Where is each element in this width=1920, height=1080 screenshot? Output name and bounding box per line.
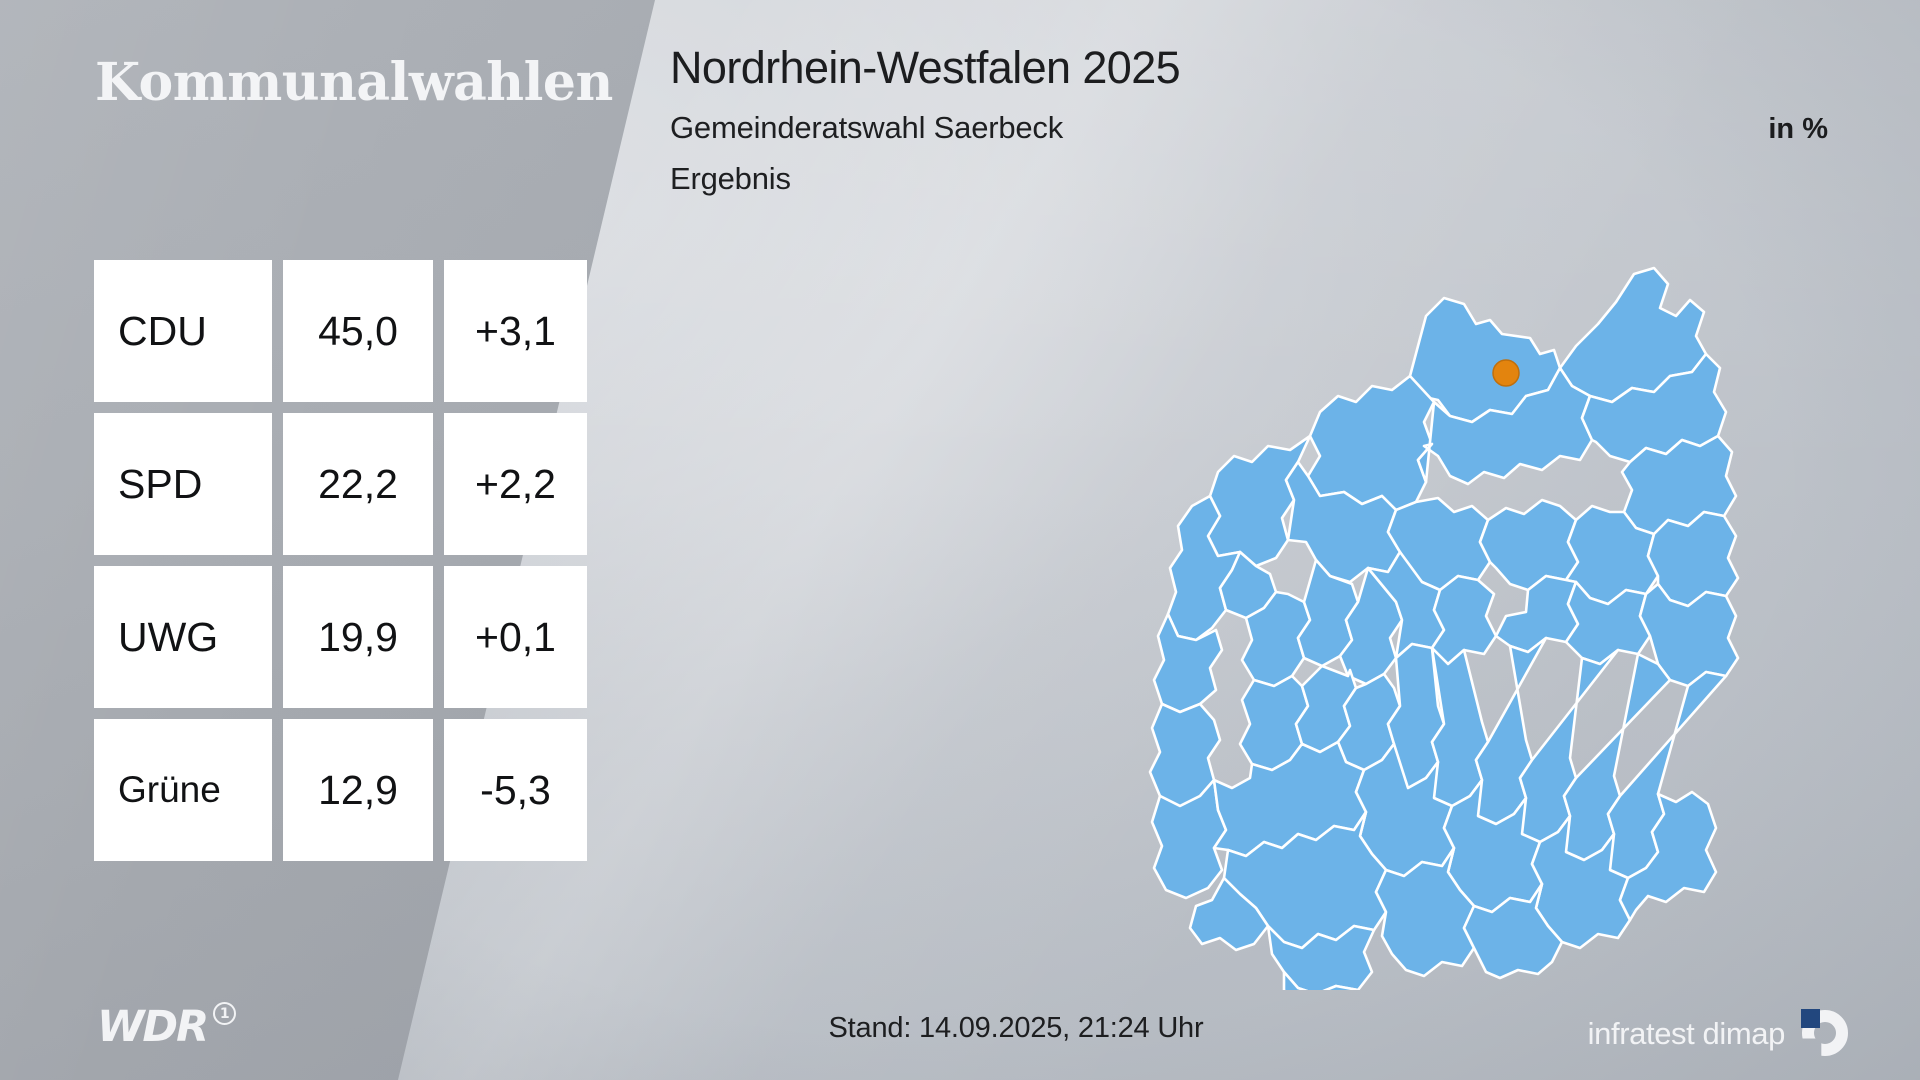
header-block: Nordrhein-Westfalen 2025 Gemeinderatswah…	[670, 44, 1860, 197]
table-cell-share: 12,9	[283, 719, 433, 861]
table-cell-share: 45,0	[283, 260, 433, 402]
nrw-map	[1020, 250, 1800, 990]
subtitle-row: Gemeinderatswahl Saerbeck in %	[670, 110, 1860, 146]
table-cell-party: SPD	[94, 413, 272, 555]
table-cell-party: CDU	[94, 260, 272, 402]
results-table: CDU 45,0 +3,1 SPD 22,2 +2,2 UWG 19,9 +0,…	[94, 260, 587, 861]
header-title: Nordrhein-Westfalen 2025	[670, 44, 1860, 92]
table-cell-change: +2,2	[444, 413, 587, 555]
map-districts	[1150, 268, 1738, 990]
timestamp-text: Stand: 14.09.2025, 21:24 Uhr	[829, 1012, 1204, 1044]
table-cell-change: +0,1	[444, 566, 587, 708]
infratest-dimap-wordmark: infratest dimap	[1588, 1018, 1785, 1049]
table-cell-change: -5,3	[444, 719, 587, 861]
map-marker-saerbeck[interactable]	[1493, 360, 1519, 386]
page-title: Kommunalwahlen	[95, 52, 613, 113]
header-subtitle: Gemeinderatswahl Saerbeck	[670, 110, 1063, 146]
infratest-dimap-icon	[1802, 1010, 1848, 1056]
dimap-square-shape	[1801, 1009, 1820, 1028]
infratest-dimap-logo: infratest dimap	[1588, 1010, 1848, 1056]
table-cell-share: 19,9	[283, 566, 433, 708]
table-cell-change: +3,1	[444, 260, 587, 402]
table-cell-party: Grüne	[94, 719, 272, 861]
header-kicker: Ergebnis	[670, 161, 1860, 197]
table-cell-party: UWG	[94, 566, 272, 708]
table-cell-share: 22,2	[283, 413, 433, 555]
unit-label: in %	[1768, 113, 1860, 146]
nrw-map-svg	[1020, 250, 1800, 990]
